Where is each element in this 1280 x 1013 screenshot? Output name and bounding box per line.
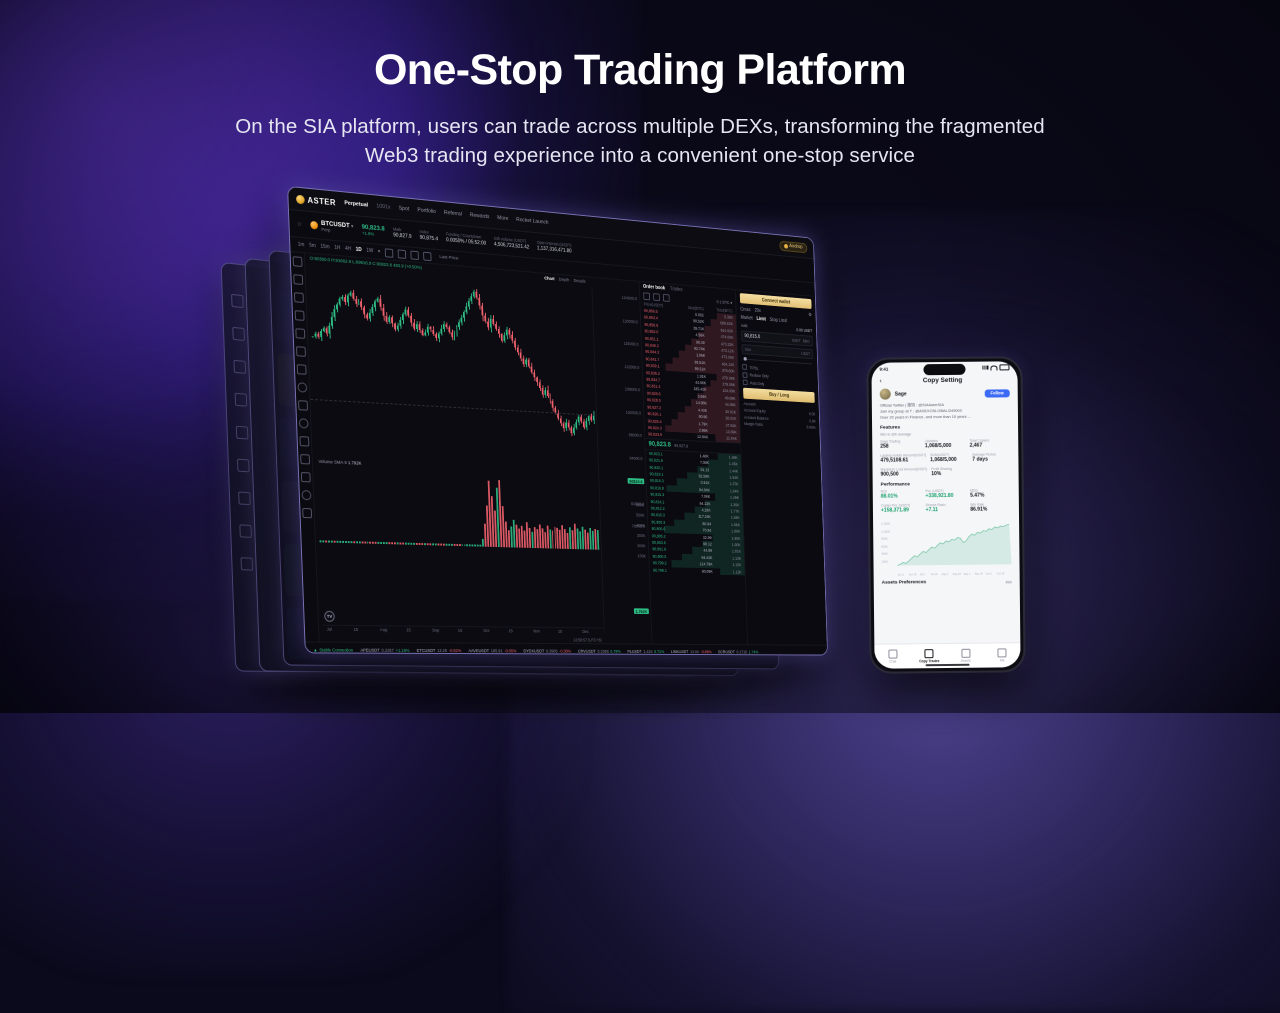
brand-logo[interactable]: ASTER	[296, 194, 336, 207]
candle-wick	[459, 319, 460, 330]
last-price-block: 90,823.8 +1.6%	[362, 224, 385, 238]
checkbox-icon	[742, 372, 747, 378]
chart-tab-chart[interactable]: Chart	[544, 276, 554, 282]
volume-bar	[429, 543, 431, 545]
perf-x-tick: Jul 1	[920, 573, 926, 576]
size-unit: USDT	[801, 351, 810, 356]
chart-clock: 12:58:57 (UTC+8)	[573, 638, 602, 643]
volume-axis-tick: 100K	[637, 554, 646, 559]
candle-wick	[356, 296, 357, 307]
candle-wick	[564, 421, 565, 432]
checkbox-label: Post Only	[750, 380, 764, 385]
crosshair-icon[interactable]	[293, 256, 303, 267]
trader-name: Sage	[895, 391, 907, 397]
lock-icon[interactable]	[301, 472, 311, 482]
leverage-selector[interactable]: 20x	[754, 308, 761, 314]
candle-wick	[523, 356, 524, 367]
candle-wick	[569, 420, 570, 430]
connection-label: Stable Connection	[319, 647, 353, 652]
bids-only-icon[interactable]	[653, 293, 660, 301]
candle	[458, 322, 460, 327]
performance-line-chart	[881, 516, 1012, 575]
perf-cell: Copier PnL (USDT) +158,371.89	[881, 503, 922, 513]
volume-bar	[448, 544, 450, 546]
candle	[501, 334, 503, 340]
mini-ticker[interactable]: DYDXUSDT0.3905-0.30%	[523, 648, 571, 653]
candle-wick	[466, 303, 467, 315]
perf-cell: MDD 5.47%	[970, 488, 1011, 498]
time-axis-tick: 15	[353, 627, 358, 632]
cellular-signal-icon	[982, 366, 988, 370]
stat-value: 1,068/5,000	[930, 457, 968, 463]
mini-ticker[interactable]: SCRUSDT0.17151.74%	[718, 649, 759, 654]
volume-bar	[597, 530, 599, 550]
candle	[369, 312, 371, 318]
ruler-icon[interactable]	[298, 400, 308, 410]
candle-wick	[476, 289, 477, 300]
volume-bar	[464, 544, 466, 546]
candle	[530, 366, 532, 372]
time-axis[interactable]: Jul15Aug15Sep15Oct15Nov15Dec	[323, 625, 603, 636]
status-icons	[982, 364, 1009, 370]
candle	[495, 324, 497, 329]
volume-bar	[389, 542, 391, 544]
candle-wick	[469, 298, 470, 309]
volume-bar	[347, 541, 349, 543]
settings-icon[interactable]	[410, 250, 419, 259]
candle	[421, 330, 423, 335]
candle-wick	[438, 332, 439, 342]
candle-wick	[318, 332, 319, 338]
volume-bar	[370, 541, 372, 543]
candle-wick	[506, 327, 507, 339]
candle-wick	[315, 331, 316, 339]
me-icon	[998, 648, 1007, 657]
size-label: Size	[745, 347, 752, 352]
perf-y-tick: 800K	[881, 537, 888, 541]
volume-bar	[325, 540, 327, 542]
mini-ticker[interactable]: AAVEUSDT185.91-0.05%	[468, 648, 516, 653]
candle-wick	[339, 297, 340, 307]
tool-icon	[231, 294, 244, 308]
timeframe-1h[interactable]: 1H	[334, 245, 340, 251]
candle	[410, 315, 412, 322]
tool-icon	[238, 491, 251, 505]
candle	[445, 324, 447, 327]
stat-index: Index 90,875.4	[419, 229, 438, 242]
candle-wick	[509, 328, 510, 338]
candle	[508, 330, 510, 335]
candle	[440, 329, 442, 334]
tab-order-book[interactable]: Order book	[643, 284, 665, 291]
candle	[323, 328, 325, 331]
perf-value: 5.47%	[970, 492, 1011, 498]
timeframe-15m[interactable]: 15m	[320, 244, 329, 251]
candle	[481, 306, 483, 316]
airdrop-button[interactable]: Airdrop	[779, 240, 807, 253]
volume-axis-tick: 300K	[637, 533, 646, 538]
candle-wick	[403, 312, 404, 323]
eye-icon[interactable]	[302, 490, 312, 500]
volume-bar	[345, 541, 347, 543]
candle	[355, 299, 357, 304]
pattern-icon[interactable]	[296, 346, 306, 357]
price-input-value: 90,815.0	[744, 333, 760, 340]
chart-tab-depth[interactable]: Depth	[559, 277, 570, 283]
volume-bar	[383, 542, 385, 544]
nav-me[interactable]: Me	[984, 648, 1021, 662]
nav-item-rocket-launch[interactable]: Rocket Launch	[516, 217, 548, 226]
volume-bar	[459, 544, 461, 546]
perf-value: 86.91%	[970, 506, 1011, 512]
candle-wick	[517, 345, 518, 356]
candle-wick	[581, 415, 582, 423]
account-key: Account Balance	[744, 414, 769, 420]
bid-row[interactable]: 90,798.190.09K1.12K	[650, 567, 745, 576]
size-slider[interactable]	[744, 359, 812, 365]
trendline-icon[interactable]	[293, 274, 303, 285]
hero-section: One-Stop Trading Platform On the SIA pla…	[0, 46, 1280, 170]
price-axis-tick: 108000.0	[625, 387, 640, 393]
candle	[560, 418, 562, 423]
candle-wick	[593, 411, 594, 423]
candle	[484, 316, 486, 321]
candle	[349, 293, 351, 296]
mini-ticker-price: 13.25	[437, 648, 447, 653]
candle	[448, 327, 450, 332]
price-chart[interactable]: O:90360.0 H:91662.9 L:89816.9 C:90823.8 …	[305, 253, 652, 643]
volume-bar	[477, 544, 479, 546]
tool-icon	[240, 557, 253, 570]
candle	[511, 335, 513, 341]
nav-item-portfolio[interactable]: Portfolio	[417, 207, 436, 215]
candle	[456, 327, 458, 333]
candle-wick	[411, 313, 412, 327]
volume-bar	[334, 541, 336, 543]
perf-x-tick: Oct 15	[997, 572, 1005, 575]
volume-bar	[361, 541, 363, 543]
volume-bar	[320, 540, 322, 542]
signal-icon: ▲	[313, 647, 317, 652]
candle	[374, 301, 376, 307]
mini-ticker-symbol: CRVUSDT	[578, 648, 596, 653]
candle	[358, 301, 360, 304]
assets-preferences-title: Assets Preferences	[882, 580, 927, 585]
candle-wick	[556, 406, 557, 415]
perf-value: 88.01%	[881, 493, 922, 499]
margin-mode-selector[interactable]: Cross	[740, 307, 750, 313]
tool-icon	[239, 524, 252, 537]
stat-cell: Total Copiers 2,467	[970, 438, 1011, 448]
bbo-button[interactable]: BBO	[803, 338, 810, 343]
both-depth-icon[interactable]	[643, 292, 650, 300]
candle	[346, 295, 348, 302]
pair-selector[interactable]: BTCUSDT ▾ Perp	[310, 218, 353, 235]
phone-screen: 9:41 ‹ Copy Setting Sage Follow Officia	[871, 361, 1020, 669]
nav-copy-trades[interactable]: Copy Trades	[911, 649, 948, 663]
nav-item-1001x[interactable]: 1001x	[376, 203, 390, 210]
mini-ticker[interactable]: CRVUSDT0.33660.78%	[578, 648, 621, 653]
volume-series	[317, 473, 600, 550]
perf-value: +158,371.89	[881, 507, 922, 513]
volume-bar	[367, 542, 369, 544]
candle-wick	[313, 336, 314, 337]
mini-ticker[interactable]: LINKUSDT13.04-0.89%	[671, 649, 712, 654]
nav-item-spot[interactable]: Spot	[399, 206, 410, 213]
text-icon[interactable]	[295, 328, 305, 339]
assets-preferences-row: Assets Preferences 30d	[882, 579, 1012, 585]
candle	[402, 314, 404, 320]
candle-wick	[441, 325, 442, 336]
mini-ticker[interactable]: APEUSDT0.2267+1.16%	[360, 647, 409, 652]
candle	[473, 292, 475, 297]
candle	[568, 423, 570, 428]
candle-wick	[398, 323, 399, 332]
candle-wick	[502, 333, 503, 343]
follow-button[interactable]: Follow	[984, 389, 1009, 397]
price-axis-tick: 94000.0	[629, 455, 642, 460]
candle-wick	[443, 321, 444, 332]
stat-volume: 24h volume (USDT) 4,506,723,521.42	[494, 236, 530, 251]
candle	[575, 422, 577, 427]
perf-x-tick: Aug 15	[953, 573, 961, 576]
candle-wick	[462, 315, 463, 325]
stat-cell: Days Trading 258	[880, 439, 921, 449]
nav-item-perpetual[interactable]: Perpetual	[344, 200, 368, 208]
magnet-icon[interactable]	[299, 418, 309, 428]
candlestick-series	[309, 266, 597, 468]
candle	[580, 417, 582, 422]
grouping-selector[interactable]: 0.1 BTC ▾	[717, 299, 733, 306]
candle	[471, 296, 473, 301]
emoji-icon[interactable]	[297, 382, 307, 393]
candle-wick	[547, 386, 548, 398]
mini-ticker[interactable]: PLUSDT1.4190.71%	[627, 649, 664, 654]
nav-item-more[interactable]: More	[497, 215, 508, 222]
nav-assets[interactable]: Assets	[947, 649, 984, 663]
time-axis-tick: 15	[558, 629, 562, 634]
volume-bar	[386, 542, 388, 544]
mini-ticker-symbol: PLUSDT	[627, 649, 641, 654]
airdrop-label: Airdrop	[789, 243, 803, 250]
compare-icon[interactable]	[397, 249, 406, 259]
checkbox-label: TP/SL	[749, 365, 758, 370]
perf-value: +338,921.80	[925, 493, 966, 499]
tab-trades[interactable]: Trades	[670, 286, 683, 293]
candle	[453, 333, 455, 338]
tool-icon	[237, 459, 250, 473]
favorite-star-icon[interactable]: ☆	[297, 220, 302, 227]
candle	[413, 323, 415, 329]
candle-wick	[326, 326, 327, 336]
mini-ticker-price: 0.3905	[546, 648, 558, 653]
candle	[533, 372, 535, 378]
time-axis-tick: Nov	[533, 629, 540, 634]
checkbox-label: Reduce Only	[750, 373, 769, 379]
tool-icon	[233, 360, 246, 374]
time-axis-tick: Jul	[327, 627, 332, 632]
volume-bar	[480, 545, 482, 547]
volume-bar	[437, 544, 439, 546]
candle	[352, 293, 354, 298]
aster-trading-app-window: ASTER Perpetual 1001x Spot Portfolio Ref…	[287, 186, 828, 656]
nav-item-rewards[interactable]: Rewards	[470, 212, 490, 220]
chevron-down-icon: ▾	[351, 223, 354, 229]
candle	[552, 401, 554, 407]
forecast-icon[interactable]	[297, 364, 307, 375]
candle	[498, 329, 500, 335]
candle	[399, 320, 401, 326]
stat-cell: Updated 1,068/5,000	[925, 439, 966, 449]
order-book-panel: Order book Trades 0.1 BTC ▾ Price(USDT) …	[639, 282, 747, 645]
candle-wick	[359, 299, 360, 305]
candle	[372, 307, 374, 313]
volume-bar	[375, 542, 377, 544]
nav-chat[interactable]: Chat	[874, 649, 911, 663]
ask-rows: 90,866.50.0025.38490,863.499.52K688.63K9…	[640, 307, 740, 443]
mini-ticker-change: -0.05%	[504, 648, 516, 653]
stats-row-2: Lasting Holder Amount(USDT) 479,5108.61 …	[880, 452, 1010, 463]
candle	[388, 317, 390, 322]
candle	[427, 327, 429, 333]
volume-bar	[443, 544, 445, 546]
stat-value: 900,500	[881, 471, 928, 477]
candle	[312, 336, 314, 337]
candle	[527, 360, 529, 366]
volume-axis-tick: 400K	[636, 523, 645, 528]
time-axis-tick: 15	[406, 627, 411, 632]
last-price-mode-label[interactable]: Last Price	[439, 255, 458, 262]
candle	[536, 378, 538, 383]
volume-bar	[364, 541, 366, 543]
volume-bar	[421, 543, 423, 545]
airdrop-icon	[784, 243, 788, 248]
slider-handle[interactable]	[744, 357, 747, 361]
volume-bar	[350, 541, 352, 543]
candle-wick	[427, 324, 428, 335]
candle	[438, 334, 440, 339]
trash-icon[interactable]	[302, 508, 312, 518]
volume-bar	[419, 543, 421, 545]
volume-bar	[469, 544, 471, 546]
stat-funding: Funding / Countdown 0.0050% / 05:52:00	[446, 231, 486, 246]
account-value: 0.00%	[806, 425, 815, 430]
candle	[336, 305, 338, 310]
volume-bar	[416, 543, 418, 545]
candle-wick	[361, 298, 362, 310]
candle	[586, 421, 588, 427]
page-subtitle: On the SIA platform, users can trade acr…	[160, 112, 1120, 170]
drawings-visibility-icon[interactable]	[300, 454, 310, 464]
volume-bar	[405, 543, 407, 545]
mini-ticker-strip[interactable]: APEUSDT0.2267+1.16%ETCUSDT13.25-0.82%AAV…	[360, 647, 758, 654]
perf-x-tick: Jul 15	[931, 573, 938, 576]
pitchfork-icon[interactable]	[295, 310, 305, 321]
candle-wick	[380, 295, 381, 311]
order-type-limit[interactable]: Limit	[756, 316, 766, 322]
candle-wick	[526, 358, 527, 368]
size-input[interactable]: Size USDT	[742, 344, 814, 359]
chevron-down-icon[interactable]: ▾	[378, 249, 381, 255]
stat-value: 258	[880, 443, 921, 449]
asks-only-icon[interactable]	[663, 294, 670, 302]
candle-wick	[400, 317, 401, 328]
candle-wick	[464, 310, 465, 322]
timeframe-1d[interactable]: 1D	[356, 247, 362, 253]
stats-row-1: Days Trading 258 Updated 1,068/5,000 Tot…	[880, 438, 1010, 449]
trader-bio-line-3[interactable]: Over 20 years in Finance, and more than …	[880, 413, 1010, 420]
candle	[325, 329, 327, 334]
account-row: Margin Ratio 0.00%	[744, 421, 815, 429]
nav-label: Me	[984, 658, 1021, 662]
candle	[443, 324, 445, 329]
connection-status: ▲ Stable Connection	[313, 647, 353, 652]
mobile-phone-mockup: 9:41 ‹ Copy Setting Sage Follow Officia	[866, 356, 1025, 674]
timeframe-1w[interactable]: 1W	[366, 248, 373, 255]
performance-chart[interactable]: 1,200K1,000K800K600K400K200KJun 1Jun 15J…	[881, 516, 1012, 575]
candle	[463, 312, 465, 318]
chart-range-label[interactable]: 30d	[1005, 580, 1011, 584]
volume-bar	[424, 543, 426, 545]
candle	[397, 325, 399, 329]
candle	[461, 318, 463, 323]
candle-wick	[321, 329, 322, 341]
magnifier-icon[interactable]	[299, 436, 309, 446]
volume-bar	[402, 543, 404, 545]
candle	[361, 302, 363, 308]
timeframe-1m[interactable]: 1m	[298, 242, 305, 249]
order-type-stop-limit[interactable]: Stop Limit	[770, 317, 787, 324]
candle	[391, 318, 393, 324]
volume-bar	[472, 544, 474, 546]
phone-page-title: Copy Setting	[882, 376, 1004, 384]
candle-wick	[417, 321, 418, 332]
chart-tab-details[interactable]: Details	[573, 278, 585, 284]
thumbnail-image	[288, 671, 345, 676]
candle-wick	[499, 326, 500, 337]
fullscreen-icon[interactable]	[423, 251, 431, 260]
page-title: One-Stop Trading Platform	[0, 46, 1280, 94]
pair-type: Perp	[321, 226, 330, 232]
nav-item-referral[interactable]: Referral	[444, 210, 462, 218]
performance-title: Performance	[881, 481, 1011, 487]
candle	[544, 390, 546, 395]
volume-bar	[372, 542, 374, 544]
settings-gear-icon[interactable]: ⚙	[808, 312, 812, 318]
volume-bar	[453, 544, 455, 546]
tool-icon	[235, 426, 248, 440]
volume-bar	[322, 540, 324, 542]
candle-wick	[337, 302, 338, 312]
candle	[557, 413, 559, 418]
candle-wick	[370, 309, 371, 322]
time-axis-tick: Oct	[483, 628, 489, 633]
order-type-market[interactable]: Market	[741, 315, 753, 321]
candle	[320, 331, 322, 337]
volume-bar	[394, 542, 396, 544]
mini-ticker[interactable]: ETCUSDT13.25-0.82%	[417, 648, 462, 653]
horizontal-lines-icon[interactable]	[294, 292, 304, 303]
candle	[517, 347, 519, 352]
timeframe-4h[interactable]: 4H	[345, 246, 351, 252]
navbar-right-group: Airdrop	[779, 240, 807, 253]
candle-wick	[485, 313, 486, 324]
candle	[386, 316, 388, 322]
volume-bar	[397, 543, 399, 545]
perf-y-tick: 1,200K	[881, 522, 890, 526]
timeframe-5m[interactable]: 5m	[309, 243, 316, 250]
indicators-icon[interactable]	[385, 248, 394, 258]
